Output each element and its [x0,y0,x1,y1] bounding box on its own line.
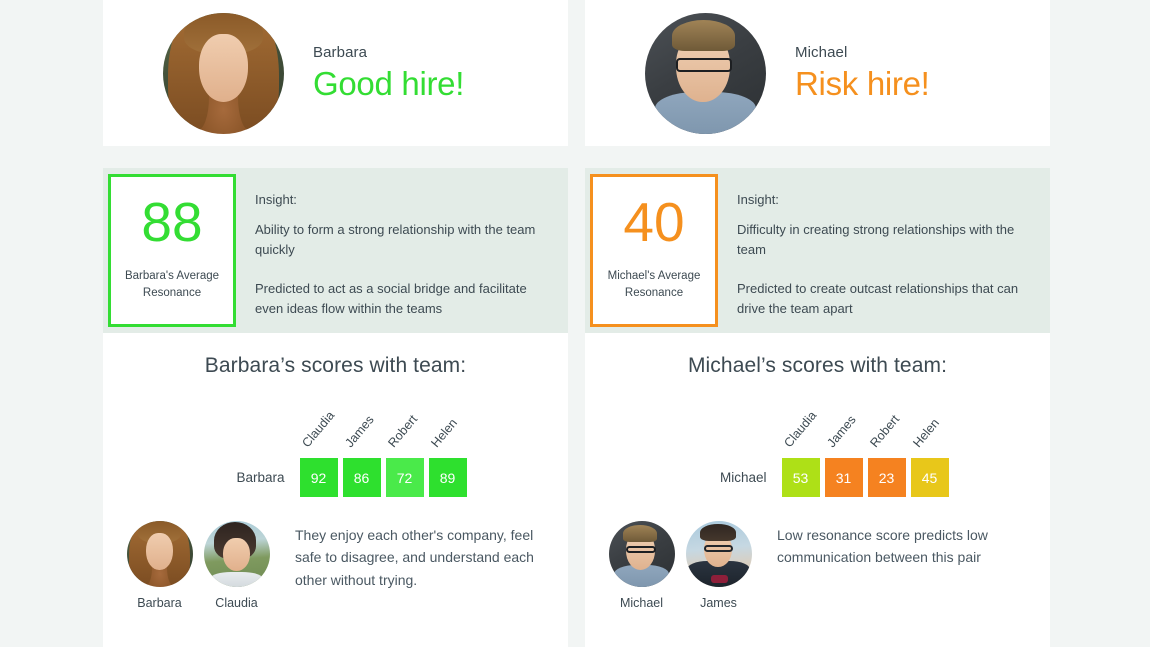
scores-matrix: Claudia James Robert Helen Barbara 92 86… [103,392,568,497]
pair-person: James [684,521,753,610]
score-tile[interactable]: 31 [825,458,863,497]
pair-footer: Barbara Claudia They enjoy each other's … [103,497,568,610]
candidate-panel-barbara: Barbara Good hire! 88 Barbara's Average … [103,0,568,647]
pair-person-name: Barbara [137,596,181,610]
matrix-column-header: Helen [429,392,472,452]
scores-section: Michael’s scores with team: Claudia Jame… [585,333,1050,647]
average-resonance-caption: Barbara's Average Resonance [119,268,225,301]
candidate-header-text: Barbara Good hire! [313,44,464,103]
matrix-column-label: Robert [385,412,420,450]
pair-avatars: Michael James [607,521,753,610]
scores-title: Barbara’s scores with team: [103,354,568,378]
matrix-row: Barbara 92 86 72 89 [210,458,472,497]
score-tile[interactable]: 89 [429,458,467,497]
matrix-column-label: Claudia [299,409,337,450]
matrix-column-header: James [825,392,868,452]
insight-band: 40 Michael's Average Resonance Insight: … [585,168,1050,333]
candidate-name: Barbara [313,44,464,61]
candidate-header-text: Michael Risk hire! [795,44,930,103]
james-photo-icon [686,521,752,587]
matrix-row-label: Barbara [210,470,300,485]
pair-person: Michael [607,521,676,610]
matrix-column-header: Claudia [300,392,343,452]
insight-label: Insight: [255,192,546,207]
pair-description: They enjoy each other's company, feel sa… [295,521,545,591]
pair-person-name: James [700,596,737,610]
score-tile[interactable]: 53 [782,458,820,497]
matrix-column-label: James [342,413,376,450]
hire-verdict: Risk hire! [795,65,930,103]
score-tile[interactable]: 92 [300,458,338,497]
insight-body: Insight: Ability to form a strong relati… [236,168,568,333]
matrix-column-label: Helen [910,416,942,450]
matrix-column-header: Helen [911,392,954,452]
matrix-column-header: Robert [386,392,429,452]
michael-photo-icon [609,521,675,587]
pair-person: Barbara [125,521,194,610]
michael-photo-icon [645,13,766,134]
pair-person-name: Michael [620,596,663,610]
matrix-column-label: Helen [428,416,460,450]
candidate-header-card: Barbara Good hire! [103,0,568,146]
barbara-photo-icon [163,13,284,134]
barbara-photo-icon [127,521,193,587]
insight-label: Insight: [737,192,1028,207]
matrix-column-header: Claudia [782,392,825,452]
pair-footer: Michael James Low resonance score predic… [585,497,1050,610]
pair-description: Low resonance score predicts low communi… [777,521,1027,569]
score-tile[interactable]: 23 [868,458,906,497]
average-resonance-caption: Michael's Average Resonance [601,268,707,301]
candidate-header-card: Michael Risk hire! [585,0,1050,146]
scores-section: Barbara’s scores with team: Claudia Jame… [103,333,568,647]
matrix-column-label: James [824,413,858,450]
insight-band: 88 Barbara's Average Resonance Insight: … [103,168,568,333]
average-resonance-value: 40 [623,195,684,250]
pair-person-name: Claudia [215,596,257,610]
candidate-name: Michael [795,44,930,61]
hire-verdict: Good hire! [313,65,464,103]
score-tile[interactable]: 72 [386,458,424,497]
score-tile[interactable]: 45 [911,458,949,497]
score-tile[interactable]: 86 [343,458,381,497]
insight-body: Insight: Difficulty in creating strong r… [718,168,1050,333]
matrix-row: Michael 53 31 23 45 [692,458,954,497]
insight-paragraph: Predicted to create outcast relationship… [737,279,1028,319]
matrix-column-header: Robert [868,392,911,452]
scores-matrix: Claudia James Robert Helen Michael 53 31… [585,392,1050,497]
matrix-column-headers: Claudia James Robert Helen [300,392,472,452]
pair-person: Claudia [202,521,271,610]
matrix-column-label: Claudia [781,409,819,450]
insight-paragraph: Difficulty in creating strong relationsh… [737,220,1028,260]
candidate-comparison-board: Barbara Good hire! 88 Barbara's Average … [0,0,1150,647]
average-resonance-value: 88 [141,195,202,250]
pair-avatars: Barbara Claudia [125,521,271,610]
average-resonance-box: 40 Michael's Average Resonance [590,174,718,327]
matrix-column-header: James [343,392,386,452]
matrix-row-label: Michael [692,470,782,485]
candidate-panel-michael: Michael Risk hire! 40 Michael's Average … [585,0,1050,647]
insight-paragraph: Predicted to act as a social bridge and … [255,279,546,319]
claudia-photo-icon [204,521,270,587]
matrix-column-headers: Claudia James Robert Helen [782,392,954,452]
matrix-column-label: Robert [867,412,902,450]
average-resonance-box: 88 Barbara's Average Resonance [108,174,236,327]
insight-paragraph: Ability to form a strong relationship wi… [255,220,546,260]
scores-title: Michael’s scores with team: [585,354,1050,378]
